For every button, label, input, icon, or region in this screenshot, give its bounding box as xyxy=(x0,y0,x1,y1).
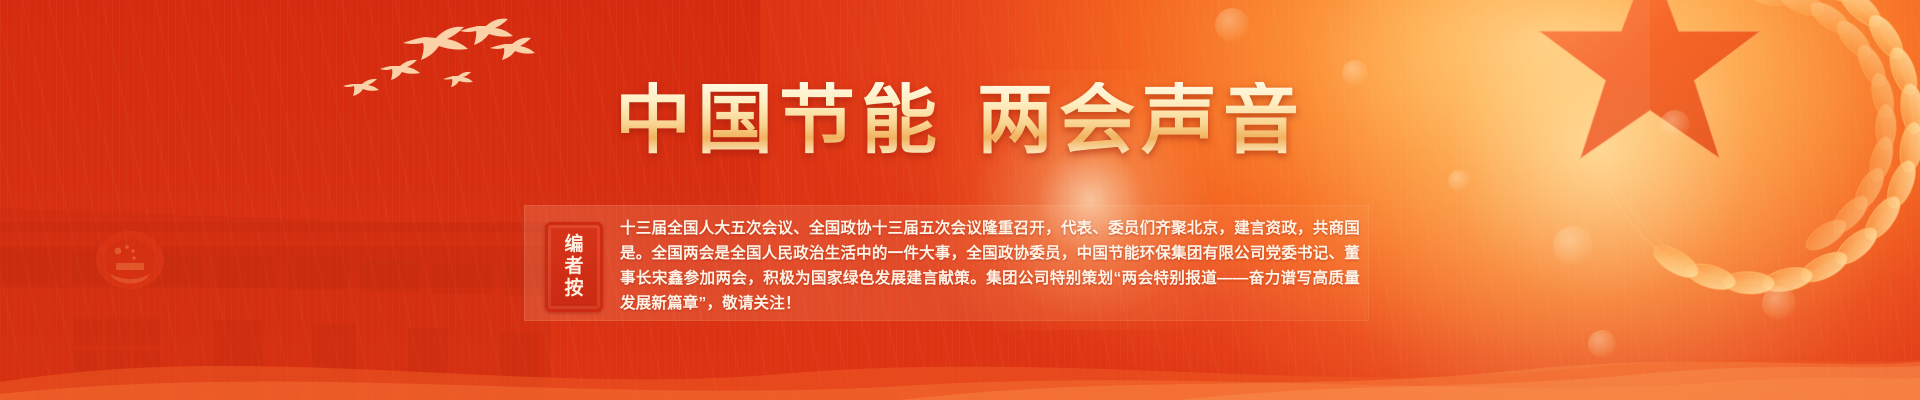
banner-title-wrap: 中国节能两会声音 xyxy=(0,82,1920,162)
title-part-1: 中国节能 xyxy=(615,79,943,163)
editor-note-text: 十三届全国人大五次会议、全国政协十三届五次会议隆重召开，代表、委员们齐聚北京，建… xyxy=(620,216,1360,316)
editor-note-seal: 编 者 按 xyxy=(545,222,603,312)
two-sessions-banner: 中国节能两会声音 编 者 按 十三届全国人大五次会议、全国政协十三届五次会议隆重… xyxy=(0,0,1920,400)
title-part-2: 两会声音 xyxy=(977,79,1305,163)
page-title: 中国节能两会声音 xyxy=(597,82,1323,162)
seal-char-2: 者 xyxy=(564,257,583,277)
seal-char-3: 按 xyxy=(564,279,583,299)
background-diagonal-texture xyxy=(0,0,1920,400)
seal-char-1: 编 xyxy=(564,235,583,255)
